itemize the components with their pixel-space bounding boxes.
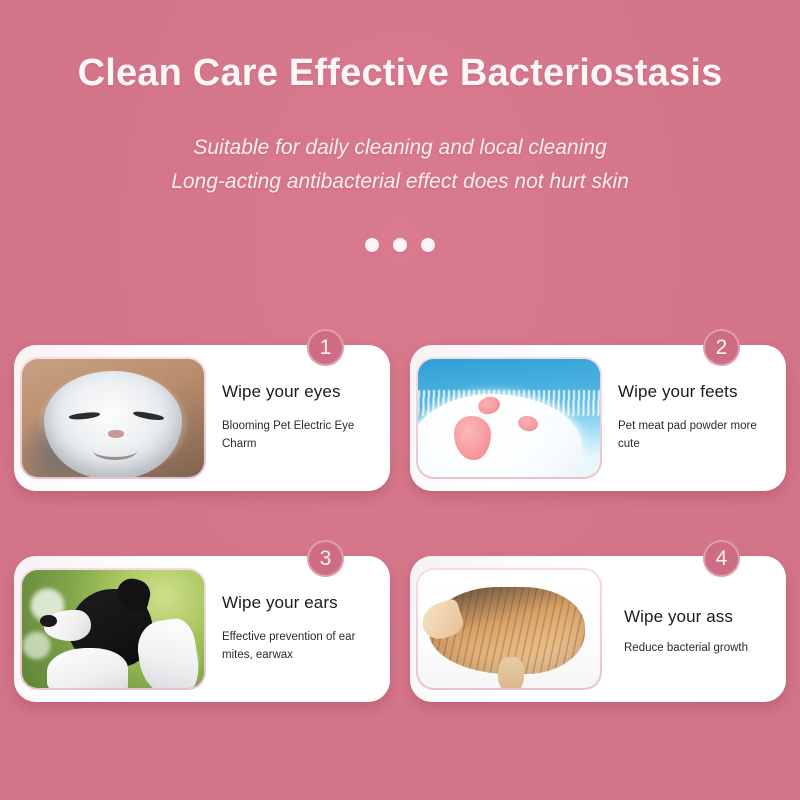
card-text-block: Wipe your ears Effective prevention of e… xyxy=(206,593,390,664)
hero-section: Clean Care Effective Bacteriostasis Suit… xyxy=(0,0,800,199)
pagination-dot-1[interactable] xyxy=(365,238,379,252)
hero-subtitle-line-2: Long-acting antibacterial effect does no… xyxy=(0,164,800,199)
feature-card-3[interactable]: 3 Wipe your ears Effective prevention of… xyxy=(14,556,390,702)
card-thumbnail-frame xyxy=(20,357,206,479)
card-inner: Wipe your eyes Blooming Pet Electric Eye… xyxy=(14,345,390,491)
step-badge-1: 1 xyxy=(307,329,344,366)
feature-card-4[interactable]: 4 Wipe your ass Reduce bacterial growth xyxy=(410,556,786,702)
step-badge-4: 4 xyxy=(703,540,740,577)
card-description-1: Blooming Pet Electric Eye Charm xyxy=(222,417,378,454)
cat-face-icon xyxy=(22,359,204,477)
card-description-2: Pet meat pad powder more cute xyxy=(618,417,774,454)
card-inner: Wipe your feets Pet meat pad powder more… xyxy=(410,345,786,491)
card-title-4: Wipe your ass xyxy=(624,607,774,627)
card-thumbnail-frame xyxy=(416,357,602,479)
carousel-pagination[interactable] xyxy=(0,238,800,252)
card-image-1 xyxy=(22,359,204,477)
paw-icon xyxy=(418,359,600,477)
feature-card-grid: 1 Wipe your eyes Blooming Pet Electric E… xyxy=(14,345,786,702)
card-text-block: Wipe your feets Pet meat pad powder more… xyxy=(602,382,786,453)
pagination-dot-3[interactable] xyxy=(421,238,435,252)
page-title: Clean Care Effective Bacteriostasis xyxy=(0,0,800,96)
card-inner: Wipe your ass Reduce bacterial growth xyxy=(410,556,786,702)
step-badge-3: 3 xyxy=(307,540,344,577)
dog-ear-icon xyxy=(22,570,204,688)
card-title-2: Wipe your feets xyxy=(618,382,774,402)
card-description-3: Effective prevention of ear mites, earwa… xyxy=(222,628,378,665)
feature-card-1[interactable]: 1 Wipe your eyes Blooming Pet Electric E… xyxy=(14,345,390,491)
card-image-2 xyxy=(418,359,600,477)
pagination-dot-2[interactable] xyxy=(393,238,407,252)
card-image-3 xyxy=(22,570,204,688)
card-thumbnail-frame xyxy=(20,568,206,690)
card-thumbnail-frame xyxy=(416,568,602,690)
promo-page: Clean Care Effective Bacteriostasis Suit… xyxy=(0,0,800,800)
card-inner: Wipe your ears Effective prevention of e… xyxy=(14,556,390,702)
card-text-block: Wipe your eyes Blooming Pet Electric Eye… xyxy=(206,382,390,453)
card-title-3: Wipe your ears xyxy=(222,593,378,613)
feature-card-2[interactable]: 2 Wipe your feets Pet meat pad powder mo… xyxy=(410,345,786,491)
step-badge-2: 2 xyxy=(703,329,740,366)
dog-rear-icon xyxy=(418,570,600,688)
card-text-block: Wipe your ass Reduce bacterial growth xyxy=(602,601,786,658)
hero-subtitle-line-1: Suitable for daily cleaning and local cl… xyxy=(0,96,800,165)
card-description-4: Reduce bacterial growth xyxy=(624,639,774,657)
card-title-1: Wipe your eyes xyxy=(222,382,378,402)
card-image-4 xyxy=(418,570,600,688)
